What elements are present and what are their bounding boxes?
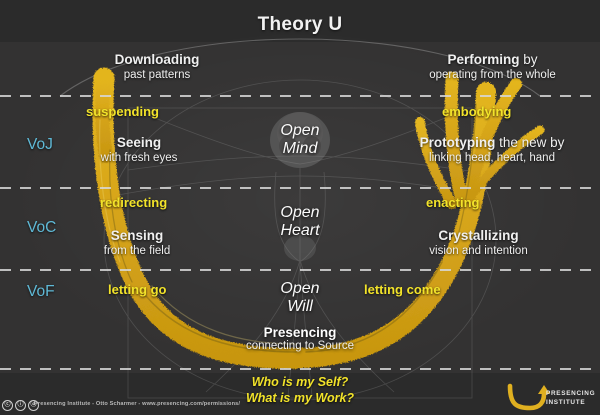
logo-line-2: INSTITUTE	[546, 399, 595, 408]
stage-performing-rest: by	[520, 52, 538, 67]
stage-downloading-bold: Downloading	[115, 52, 200, 67]
footer-credit: Presencing Institute - Otto Scharmer - w…	[34, 401, 240, 407]
voice-label-voc: VoC	[27, 219, 56, 237]
presencing-title: Presencing	[180, 325, 420, 340]
stage-prototyping-bold: Prototyping	[420, 135, 496, 150]
stage-sensing-title: Sensing	[62, 228, 212, 244]
stage-crystallizing-title: Crystallizing	[386, 228, 571, 244]
center-open-mind: Open Mind	[225, 122, 375, 157]
stage-performing-sub: operating from the whole	[390, 69, 595, 83]
voice-label-voj: VoJ	[27, 136, 53, 154]
stage-performing-title: Performing by	[390, 52, 595, 68]
voice-label-vof: VoF	[27, 283, 55, 301]
stage-seeing-sub: with fresh eyes	[64, 152, 214, 166]
movement-embodying: embodying	[442, 104, 511, 119]
stage-crystallizing-bold: Crystallizing	[438, 228, 518, 243]
presencing-subtitle: connecting to Source	[180, 340, 420, 352]
presencing-institute-wordmark: PRESENCING INSTITUTE	[546, 390, 595, 407]
logo-line-1: PRESENCING	[546, 390, 595, 399]
cc-icon-by: ⓒ	[2, 400, 13, 411]
stage-crystallizing-sub: vision and intention	[386, 245, 571, 259]
stage-downloading-title: Downloading	[72, 52, 242, 68]
center-open-heart-line1: Open	[225, 204, 375, 222]
stage-sensing-bold: Sensing	[111, 228, 164, 243]
movement-redirecting: redirecting	[100, 195, 167, 210]
theory-u-diagram: Theory U Downloading past patterns Perfo…	[0, 0, 600, 415]
stage-sensing-sub: from the field	[62, 245, 212, 259]
stage-downloading-sub: past patterns	[72, 69, 242, 83]
center-open-heart: Open Heart	[225, 204, 375, 239]
movement-enacting: enacting	[426, 195, 479, 210]
cc-icon-nc: ⓘ	[15, 400, 26, 411]
center-open-heart-line2: Heart	[225, 222, 375, 240]
stage-performing-bold: Performing	[447, 52, 519, 67]
movement-suspending: suspending	[86, 104, 159, 119]
presencing-block: Presencing connecting to Source	[180, 325, 420, 352]
center-open-will: Open Will	[225, 280, 375, 315]
stage-seeing-bold: Seeing	[117, 135, 161, 150]
movement-letting-go: letting go	[108, 282, 167, 297]
stage-seeing-title: Seeing	[64, 135, 214, 151]
center-open-mind-line1: Open	[225, 122, 375, 140]
stage-prototyping-rest: the new by	[495, 135, 564, 150]
movement-letting-come: letting come	[364, 282, 441, 297]
center-open-will-line1: Open	[225, 280, 375, 298]
center-open-mind-line2: Mind	[225, 140, 375, 158]
stage-prototyping-sub: linking head, heart, hand	[386, 152, 598, 166]
page-title: Theory U	[0, 14, 600, 36]
stage-prototyping-title: Prototyping the new by	[386, 135, 598, 151]
center-open-will-line2: Will	[225, 298, 375, 316]
